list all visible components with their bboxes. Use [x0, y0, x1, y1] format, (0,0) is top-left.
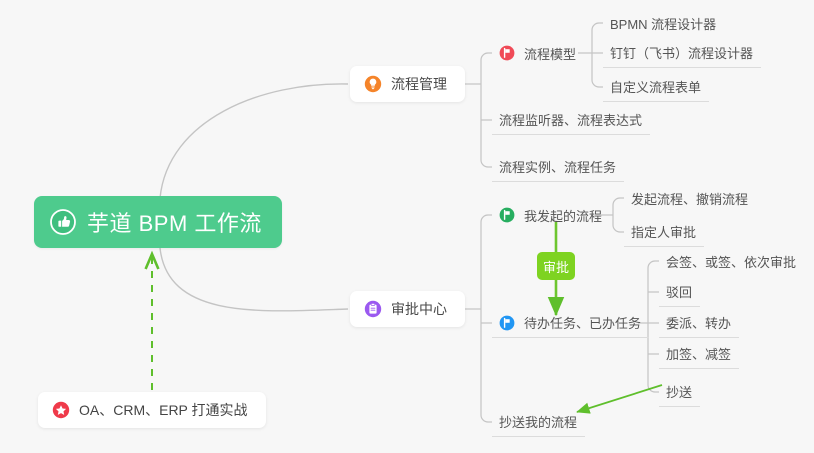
topic-process-listener[interactable]: 流程监听器、流程表达式	[492, 105, 650, 135]
topic-reject[interactable]: 驳回	[659, 277, 700, 307]
topic-cc-to-me[interactable]: 抄送我的流程	[492, 407, 585, 437]
bracket-model-corner-top	[592, 23, 599, 30]
branch-label-approval-center: 审批中心	[391, 299, 447, 319]
mindmap-canvas: 芋道 BPM 工作流 流程管理 流程模型 BPMN 流程设计器 钉	[0, 0, 814, 453]
topic-process-instance[interactable]: 流程实例、流程任务	[492, 152, 624, 182]
topic-assignee-approval[interactable]: 指定人审批	[624, 217, 704, 247]
root-node[interactable]: 芋道 BPM 工作流	[34, 196, 282, 248]
topic-bpmn-designer[interactable]: BPMN 流程设计器	[603, 8, 724, 38]
branch-label-process-management: 流程管理	[391, 74, 447, 94]
topic-label-todo-done-tasks: 待办任务、已办任务	[524, 313, 641, 332]
topic-label-delegate-transfer: 委派、转办	[666, 313, 731, 332]
note-node-label: OA、CRM、ERP 打通实战	[79, 400, 248, 420]
star-icon	[52, 401, 70, 419]
topic-start-cancel-process[interactable]: 发起流程、撤销流程	[624, 183, 756, 213]
topic-label-process-listener: 流程监听器、流程表达式	[499, 110, 642, 129]
root-node-label: 芋道 BPM 工作流	[87, 206, 262, 238]
bracket-todo-corner-top	[648, 261, 655, 268]
branch-node-process-management[interactable]: 流程管理	[350, 66, 465, 102]
topic-countersign[interactable]: 会签、或签、依次审批	[659, 246, 804, 276]
bracket-mine-corner-top	[613, 198, 620, 205]
topic-label-process-instance: 流程实例、流程任务	[499, 157, 616, 176]
thumbs-up-icon	[50, 209, 76, 235]
flag-icon	[499, 315, 515, 331]
bracket-ac-corner-top	[481, 215, 488, 222]
topic-dingtalk-feishu-designer[interactable]: 钉钉（飞书）流程设计器	[603, 38, 761, 68]
topic-label-process-model: 流程模型	[524, 44, 576, 63]
topic-label-cc-to-me: 抄送我的流程	[499, 412, 577, 431]
highlight-pill-label: 审批	[543, 257, 569, 276]
connector-root-to-approval-center	[160, 248, 348, 311]
arrow-cc-to-ccmine	[577, 385, 662, 412]
topic-my-started-process[interactable]: 我发起的流程	[492, 200, 610, 230]
topic-label-countersign: 会签、或签、依次审批	[666, 252, 796, 271]
topic-add-remove-sign[interactable]: 加签、减签	[659, 339, 739, 369]
topic-label-cc: 抄送	[666, 382, 692, 401]
topic-todo-done-tasks[interactable]: 待办任务、已办任务	[492, 308, 649, 338]
clipboard-icon	[364, 300, 382, 318]
topic-custom-process-form[interactable]: 自定义流程表单	[603, 72, 709, 102]
bracket-todo-corner-bottom	[648, 385, 655, 392]
topic-delegate-transfer[interactable]: 委派、转办	[659, 308, 739, 338]
topic-label-reject: 驳回	[666, 282, 692, 301]
bracket-pm-corner-bottom	[481, 160, 488, 167]
topic-label-my-started-process: 我发起的流程	[524, 206, 602, 225]
note-node[interactable]: OA、CRM、ERP 打通实战	[38, 392, 266, 428]
lightbulb-icon	[364, 75, 382, 93]
topic-label-assignee-approval: 指定人审批	[631, 222, 696, 241]
bracket-ac-corner-bottom	[481, 415, 488, 422]
bracket-pm-corner-top	[481, 53, 488, 60]
topic-cc[interactable]: 抄送	[659, 377, 700, 407]
topic-label-dingtalk-feishu-designer: 钉钉（飞书）流程设计器	[610, 43, 753, 62]
topic-label-start-cancel-process: 发起流程、撤销流程	[631, 189, 748, 208]
bracket-model-corner-bottom	[592, 80, 599, 87]
topic-label-custom-process-form: 自定义流程表单	[610, 77, 701, 96]
bracket-mine-corner-bottom	[613, 225, 620, 232]
flag-icon	[499, 207, 515, 223]
flag-icon	[499, 45, 515, 61]
connector-root-to-process-management	[160, 84, 348, 198]
topic-process-model[interactable]: 流程模型	[492, 38, 584, 68]
highlight-pill-approval[interactable]: 审批	[537, 252, 575, 280]
topic-label-bpmn-designer: BPMN 流程设计器	[610, 14, 716, 33]
branch-node-approval-center[interactable]: 审批中心	[350, 291, 465, 327]
topic-label-add-remove-sign: 加签、减签	[666, 344, 731, 363]
